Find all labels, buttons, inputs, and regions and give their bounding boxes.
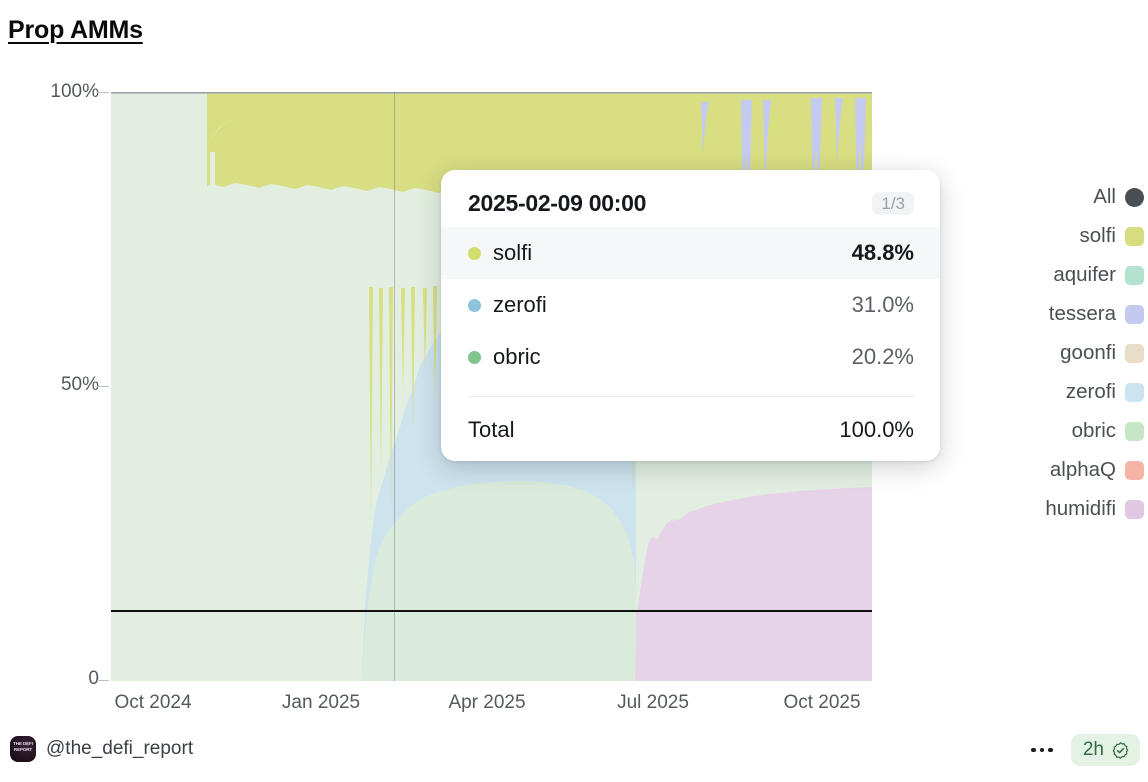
y-axis-tick-mark-50: [97, 386, 109, 387]
legend-label-obric: obric: [1072, 421, 1116, 442]
legend-label-zerofi: zerofi: [1066, 382, 1116, 403]
legend-label-alphaq: alphaQ: [1050, 460, 1116, 481]
legend-item-zerofi[interactable]: zerofi: [978, 373, 1148, 412]
legend-label-aquifer: aquifer: [1053, 265, 1116, 286]
tooltip-header: 2025-02-09 00:00 1/3: [441, 184, 940, 227]
tooltip-total-row: Total 100.0%: [441, 397, 940, 443]
legend-swatch-humidifi-icon[interactable]: [1125, 500, 1144, 519]
x-axis-tick-1: Jan 2025: [282, 692, 360, 714]
tooltip-dot-zerofi-icon: [468, 299, 481, 312]
legend-swatch-solfi-icon[interactable]: [1125, 227, 1144, 246]
plot-top-border: [111, 92, 872, 94]
verified-badge-icon: [1111, 741, 1130, 760]
x-axis-tick-3: Jul 2025: [617, 692, 689, 714]
y-axis-tick-50: 50%: [61, 374, 99, 396]
tooltip-row-obric: obric 20.2%: [441, 331, 940, 383]
legend-item-obric[interactable]: obric: [978, 412, 1148, 451]
legend-label-goonfi: goonfi: [1060, 343, 1116, 364]
legend-swatch-obric-icon[interactable]: [1125, 422, 1144, 441]
tooltip-dot-solfi-icon: [468, 247, 481, 260]
tooltip-page-counter: 1/3: [872, 192, 914, 215]
more-options-icon[interactable]: [1027, 742, 1057, 759]
y-axis-tick-100: 100%: [50, 81, 99, 103]
y-axis-tick-mark-100: [97, 92, 109, 93]
y-axis-tick-mark-0: [97, 680, 109, 681]
tooltip-row-zerofi: zerofi 31.0%: [441, 279, 940, 331]
legend-swatch-zerofi-icon[interactable]: [1125, 383, 1144, 402]
series-obric-left-block: [111, 92, 207, 681]
tooltip-name-zerofi: zerofi: [493, 292, 852, 318]
tooltip-dot-obric-icon: [468, 351, 481, 364]
page-title: Prop AMMs: [8, 16, 143, 45]
chart-tooltip: 2025-02-09 00:00 1/3 solfi 48.8% zerofi …: [441, 170, 940, 461]
avatar-label: THE DEFI REPORT: [10, 741, 36, 753]
legend-label-solfi: solfi: [1080, 226, 1116, 247]
legend-item-solfi[interactable]: solfi: [978, 217, 1148, 256]
legend-item-aquifer[interactable]: aquifer: [978, 256, 1148, 295]
legend-item-humidifi[interactable]: humidifi: [978, 490, 1148, 529]
tooltip-total-label: Total: [468, 417, 514, 443]
legend-swatch-goonfi-icon[interactable]: [1125, 344, 1144, 363]
tooltip-value-zerofi: 31.0%: [852, 292, 914, 318]
legend-swatch-all-icon[interactable]: [1125, 188, 1144, 207]
legend-label-all: All: [1093, 187, 1116, 208]
legend-label-tessera: tessera: [1049, 304, 1116, 325]
tooltip-name-solfi: solfi: [493, 240, 852, 266]
legend-swatch-tessera-icon[interactable]: [1125, 305, 1144, 324]
legend-item-alphaq[interactable]: alphaQ: [978, 451, 1148, 490]
screenshot-root: Prop AMMs 100% 50% 0: [0, 0, 1148, 782]
legend-swatch-aquifer-icon[interactable]: [1125, 266, 1144, 285]
chart-legend[interactable]: All solfi aquifer tessera goonfi zerofi …: [978, 178, 1148, 529]
x-axis-baseline: [111, 610, 872, 612]
tooltip-total-value: 100.0%: [839, 417, 914, 443]
hover-crosshair: [394, 92, 395, 681]
account-handle[interactable]: @the_defi_report: [46, 738, 193, 760]
footer-actions: 2h: [1027, 734, 1140, 766]
legend-swatch-alphaq-icon[interactable]: [1125, 461, 1144, 480]
y-axis-tick-0: 0: [88, 668, 99, 690]
legend-item-goonfi[interactable]: goonfi: [978, 334, 1148, 373]
avatar[interactable]: THE DEFI REPORT: [10, 736, 36, 762]
x-axis-tick-0: Oct 2024: [114, 692, 191, 714]
x-axis-tick-2: Apr 2025: [448, 692, 525, 714]
tooltip-row-solfi: solfi 48.8%: [441, 227, 940, 279]
timestamp-label: 2h: [1083, 739, 1104, 761]
tooltip-value-obric: 20.2%: [852, 344, 914, 370]
tooltip-date: 2025-02-09 00:00: [468, 190, 646, 217]
footer-bar: THE DEFI REPORT @the_defi_report 2h: [0, 726, 1148, 782]
tooltip-value-solfi: 48.8%: [852, 240, 914, 266]
legend-item-all[interactable]: All: [978, 178, 1148, 217]
legend-item-tessera[interactable]: tessera: [978, 295, 1148, 334]
legend-label-humidifi: humidifi: [1045, 499, 1116, 520]
timestamp-badge[interactable]: 2h: [1071, 734, 1140, 766]
tooltip-name-obric: obric: [493, 344, 852, 370]
x-axis-tick-4: Oct 2025: [783, 692, 860, 714]
